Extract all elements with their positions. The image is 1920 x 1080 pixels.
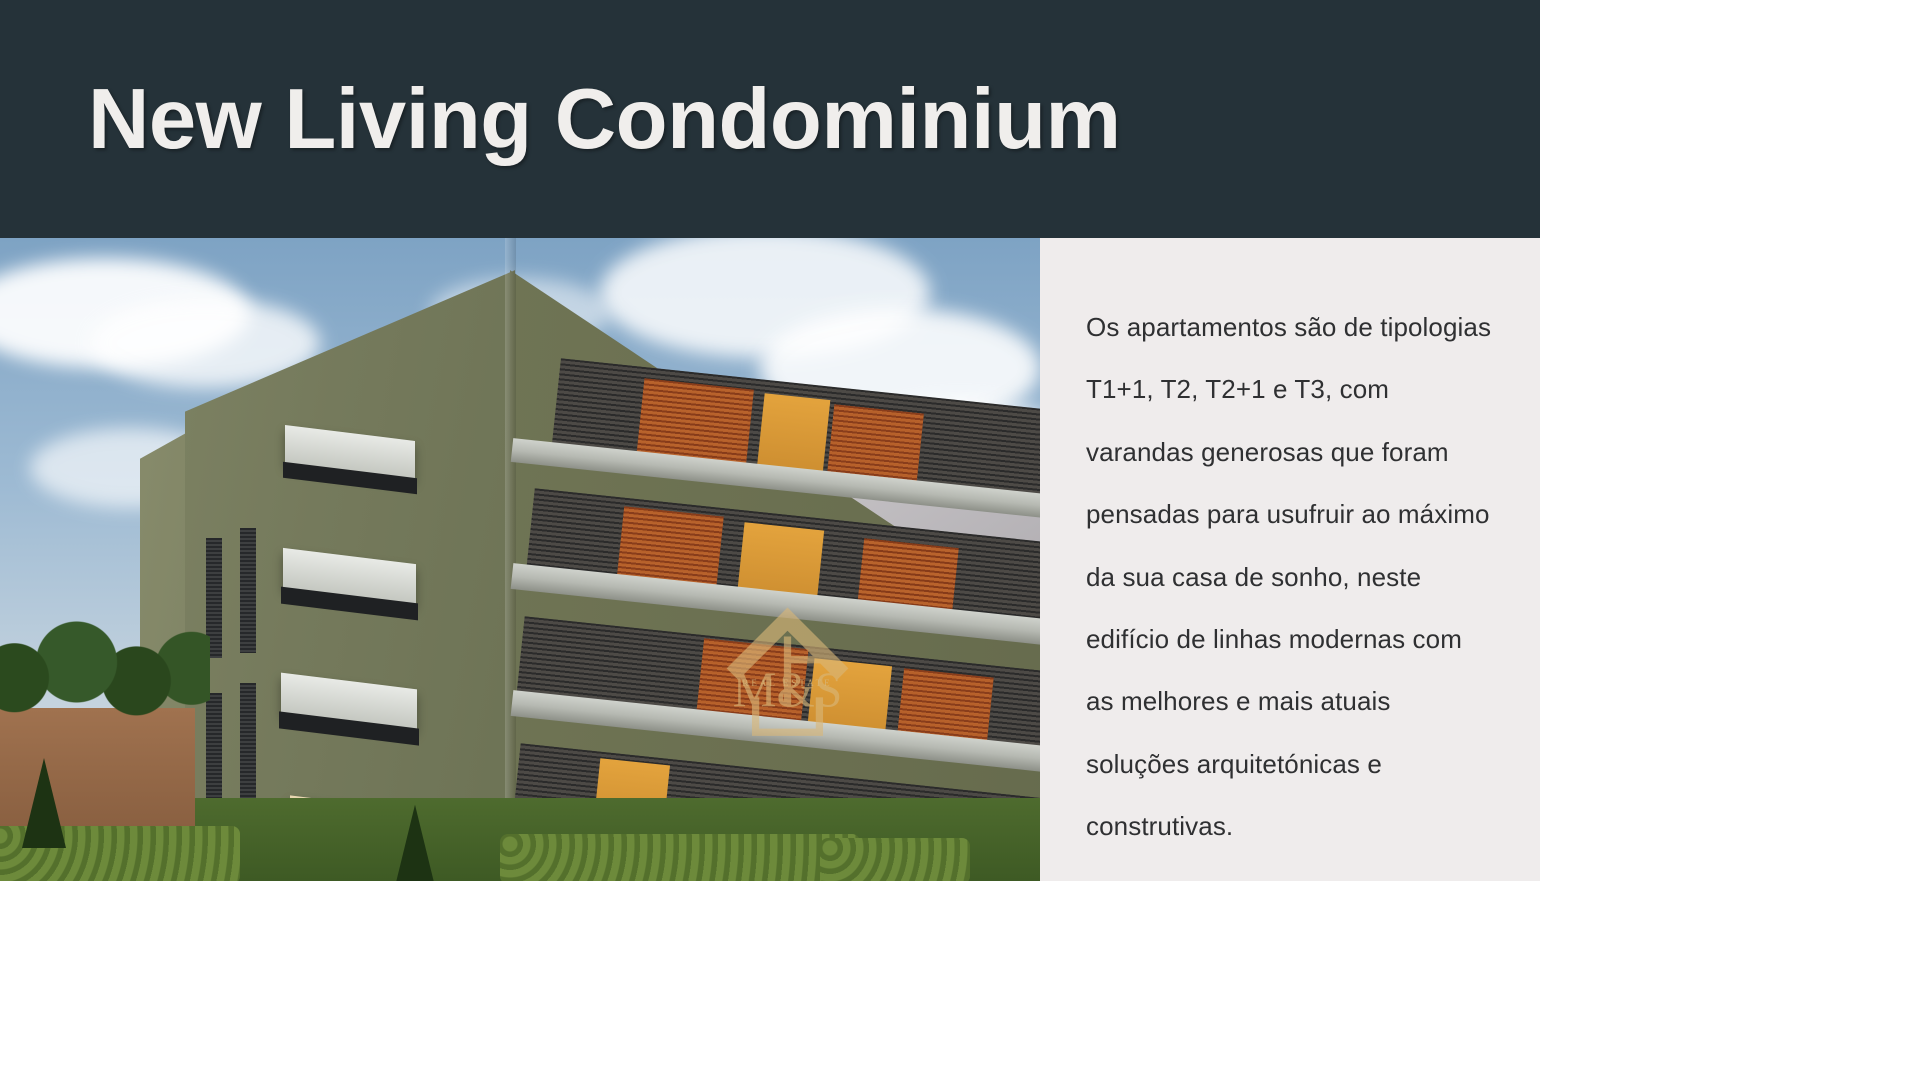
description-paragraph: Os apartamentos são de tipologias T1+1, … — [1086, 296, 1496, 858]
header-band: New Living Condominium — [0, 0, 1540, 238]
page-title: New Living Condominium — [88, 77, 1121, 162]
slide-body: M&S REAL ESTATE Os apartamentos são de t… — [0, 238, 1540, 881]
conifer-tree — [396, 805, 433, 881]
conifer-tree — [22, 758, 66, 848]
watermark-tagline: REAL ESTATE — [715, 678, 860, 688]
facade-window-slot — [240, 528, 256, 653]
garden-hedge — [820, 838, 970, 881]
building-corner-edge — [505, 238, 516, 881]
description-panel: Os apartamentos são de tipologias T1+1, … — [1040, 238, 1540, 881]
garden-hedge — [500, 834, 860, 881]
facade-window-slot — [240, 683, 256, 808]
presentation-slide: New Living Condominium — [0, 0, 1540, 881]
building-render-image: M&S REAL ESTATE — [0, 238, 1040, 881]
background-treeline-left — [0, 620, 210, 725]
